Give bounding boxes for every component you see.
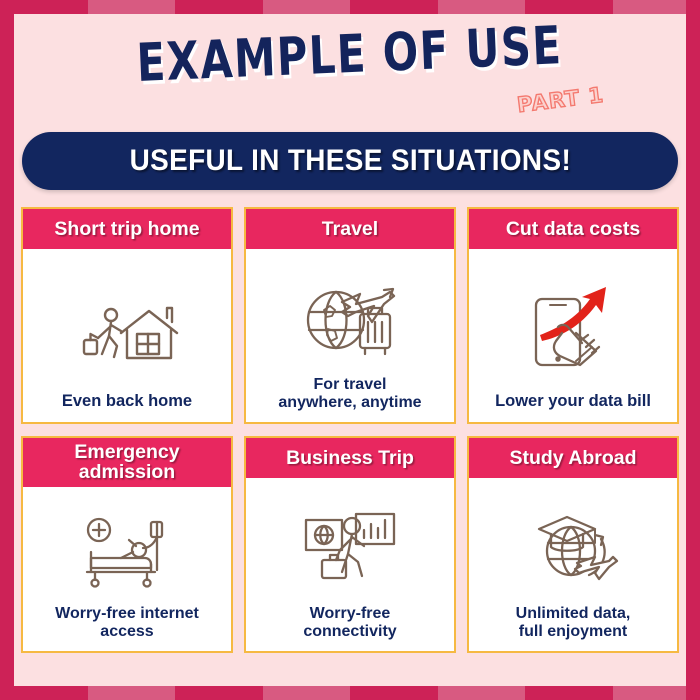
card-title: Short trip home [54,219,199,239]
card-caption: Unlimited data, full enjoyment [516,605,631,642]
stripe [350,0,438,14]
situation-card[interactable]: Emergency admission [21,436,233,653]
stripe [438,686,526,700]
left-border-strip [0,0,14,700]
headline: EXAMPLE OF USE [17,16,683,94]
smartphone-hand-tap-red-arrow-icon [474,258,672,393]
globe-airplane-suitcase-icon [251,258,449,376]
card-body: For travel anywhere, anytime [246,249,454,422]
businessman-briefcase-chart-icon [251,487,449,605]
page-title: EXAMPLE OF USE [136,16,564,95]
stripe [263,0,351,14]
card-header: Emergency admission [23,438,231,487]
right-border-strip [686,0,700,700]
situation-card[interactable]: Study Abroad [467,436,679,653]
situation-card[interactable]: Short trip home [21,207,233,424]
card-body: Lower your data bill [469,249,677,422]
card-title: Cut data costs [506,219,640,239]
card-body: Unlimited data, full enjoyment [469,478,677,651]
card-caption: Lower your data bill [495,393,651,413]
top-stripe-border [0,0,700,14]
hospital-bed-patient-iv-icon [28,496,226,606]
traveler-with-luggage-and-house-icon [28,258,226,393]
stripe [525,686,613,700]
card-caption: For travel anywhere, anytime [278,376,421,413]
card-caption: Worry-free connectivity [303,605,396,642]
part-badge: PART 1 [516,83,605,117]
stripe [263,686,351,700]
card-body: Worry-free internet access [23,487,231,651]
situation-card[interactable]: Travel [244,207,456,424]
card-body: Even back home [23,249,231,422]
page-content: EXAMPLE OF USE PART 1 USEFUL IN THESE SI… [14,14,686,686]
card-header: Travel [246,209,454,249]
stripe [88,686,176,700]
card-title: Emergency admission [74,442,179,483]
situations-grid: Short trip home [18,207,682,653]
card-caption: Even back home [62,393,192,413]
banner-label: USEFUL IN THESE SITUATIONS! [129,144,570,178]
situation-card[interactable]: Business Trip [244,436,456,653]
card-header: Study Abroad [469,438,677,478]
situation-card[interactable]: Cut data costs [467,207,679,424]
poster: EXAMPLE OF USE PART 1 USEFUL IN THESE SI… [0,0,700,700]
bottom-stripe-border [0,686,700,700]
headline-area: EXAMPLE OF USE PART 1 [18,14,682,132]
card-header: Business Trip [246,438,454,478]
card-title: Business Trip [286,448,414,468]
stripe [350,686,438,700]
situations-banner: USEFUL IN THESE SITUATIONS! [22,132,678,190]
card-title: Study Abroad [509,448,636,468]
globe-graduation-cap-airplane-icon [474,487,672,605]
stripe [175,686,263,700]
stripe [88,0,176,14]
card-body: Worry-free connectivity [246,478,454,651]
card-header: Short trip home [23,209,231,249]
stripe [525,0,613,14]
card-title: Travel [322,219,378,239]
stripe [175,0,263,14]
card-header: Cut data costs [469,209,677,249]
stripe [438,0,526,14]
card-caption: Worry-free internet access [55,605,199,642]
